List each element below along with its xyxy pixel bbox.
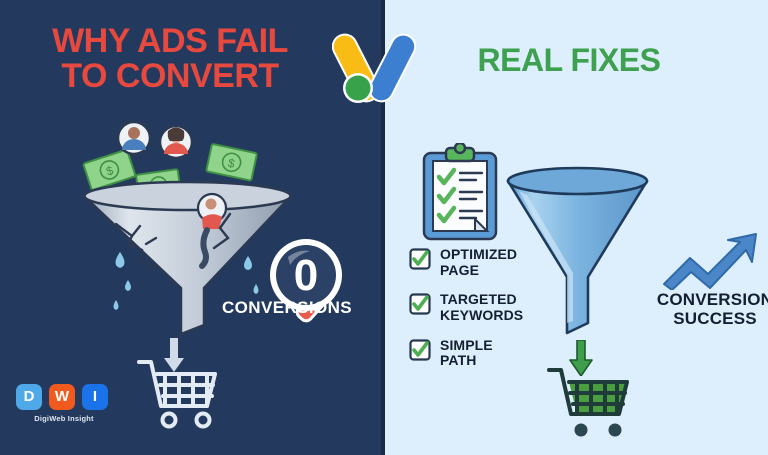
- conversion-success-label: CONVERSION SUCCESS: [650, 290, 768, 328]
- magnifier-zero-conversions: 0: [258, 233, 370, 333]
- growth-arrow-icon: [660, 232, 762, 290]
- checklist-item-targeted-keywords[interactable]: TARGETED KEYWORDS: [409, 292, 574, 323]
- checklist-label: TARGETED KEYWORDS: [440, 292, 523, 323]
- money-note: $: [206, 144, 257, 181]
- brand-name-text: DigiWeb Insight: [16, 414, 112, 423]
- left-title-line-1: WHY ADS FAIL: [0, 24, 340, 59]
- checkbox-checked-icon[interactable]: [409, 248, 431, 270]
- avatar: [160, 126, 192, 158]
- funnel-rim-right: [508, 168, 647, 194]
- checklist-item-simple-path[interactable]: SIMPLE PATH: [409, 338, 574, 369]
- checkbox-checked-icon[interactable]: [409, 293, 431, 315]
- infographic-canvas: WHY ADS FAIL TO CONVERT REAL FIXES: [0, 0, 768, 455]
- checklist-clipboard-icon: [420, 143, 500, 243]
- conversions-count: 0: [294, 251, 318, 300]
- checkbox-checked-icon[interactable]: [409, 339, 431, 361]
- google-ads-logo: [332, 16, 416, 108]
- brand-letter-i: I: [82, 384, 108, 410]
- left-panel-title: WHY ADS FAIL TO CONVERT: [0, 24, 340, 93]
- checklist-item-optimized-page[interactable]: OPTIMIZED PAGE: [409, 247, 574, 278]
- left-title-line-2: TO CONVERT: [0, 59, 340, 94]
- checklist-label: OPTIMIZED PAGE: [440, 247, 517, 278]
- empty-shopping-cart-icon: [135, 352, 227, 430]
- checklist-label: SIMPLE PATH: [440, 338, 493, 369]
- fixes-checklist: OPTIMIZED PAGE TARGETED KEYWORDS SIMPLE …: [409, 247, 574, 383]
- conversions-label: CONVERSIONS: [222, 298, 372, 318]
- brand-letter-d: D: [16, 384, 42, 410]
- avatar: [118, 122, 150, 154]
- brand-letter-w: W: [49, 384, 75, 410]
- right-panel-title: REAL FIXES: [404, 44, 734, 77]
- funnel-rim: [85, 182, 291, 210]
- brand-logo[interactable]: D W I DigiWeb Insight: [16, 384, 112, 430]
